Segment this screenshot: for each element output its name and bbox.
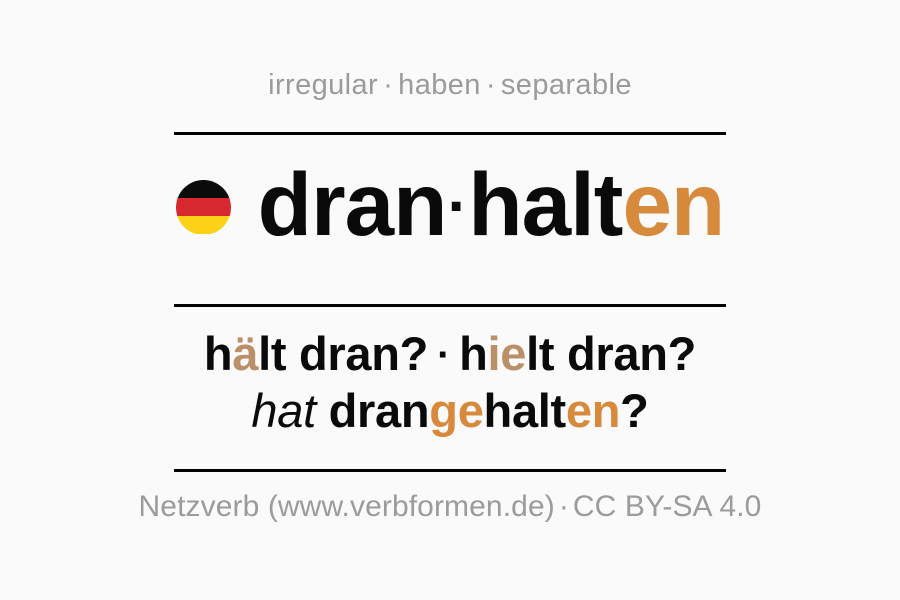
divider-top [174,132,726,135]
form-separator: · [428,333,459,377]
form-perfect-ending: en [566,384,620,437]
footer-source: Netzverb (www.verbformen.de) [139,490,555,523]
headword-stem: halt [468,154,622,254]
form-present: hält dran? [204,327,428,380]
form-present-before: h [204,327,232,380]
form-line-present-preterite: hält dran?·hielt dran? [0,326,900,383]
principal-parts: hält dran?·hielt dran? hat drangehalten? [0,326,900,440]
footer-license: CC BY-SA 4.0 [573,490,762,523]
footer-attribution: Netzverb (www.verbformen.de)·CC BY-SA 4.… [139,492,762,522]
attribute-separable: separable [501,69,632,101]
headword-separator-dot: · [447,172,469,241]
form-present-stem-change: ä [232,327,258,380]
form-perfect-prefix: dran [329,384,430,437]
divider-bottom [174,469,726,472]
form-perfect-stem: halt [484,384,566,437]
form-preterite-before: h [459,327,487,380]
footer-separator: · [555,490,573,523]
headword-row: dran·halten [0,145,900,263]
verb-conjugation-card: irregular·haben·separable dran·halten hä… [0,0,900,600]
form-perfect-question-mark: ? [620,384,648,437]
divider-middle [174,304,726,307]
flag-band-gold [176,216,231,234]
headword-infinitive: dran·halten [258,160,725,249]
flag-band-black [176,180,231,198]
form-preterite-stem-change: ie [488,327,527,380]
verb-attributes: irregular·haben·separable [268,71,632,100]
headword-ending: en [622,154,724,254]
flag-band-red [176,198,231,216]
form-preterite-after: lt dran? [526,327,696,380]
attribute-auxiliary: haben [398,69,481,101]
german-flag-icon [176,180,231,235]
attribute-separator: · [378,69,398,101]
form-perfect-ge-affix: ge [429,384,483,437]
attribute-separator: · [481,69,501,101]
form-present-after: lt dran? [258,327,428,380]
form-perfect-auxiliary: hat [251,384,315,437]
form-perfect-space [316,384,329,437]
attribute-irregular: irregular [268,69,378,101]
headword-prefix: dran [258,154,447,254]
form-preterite: hielt dran? [459,327,696,380]
form-line-perfect: hat drangehalten? [0,383,900,440]
